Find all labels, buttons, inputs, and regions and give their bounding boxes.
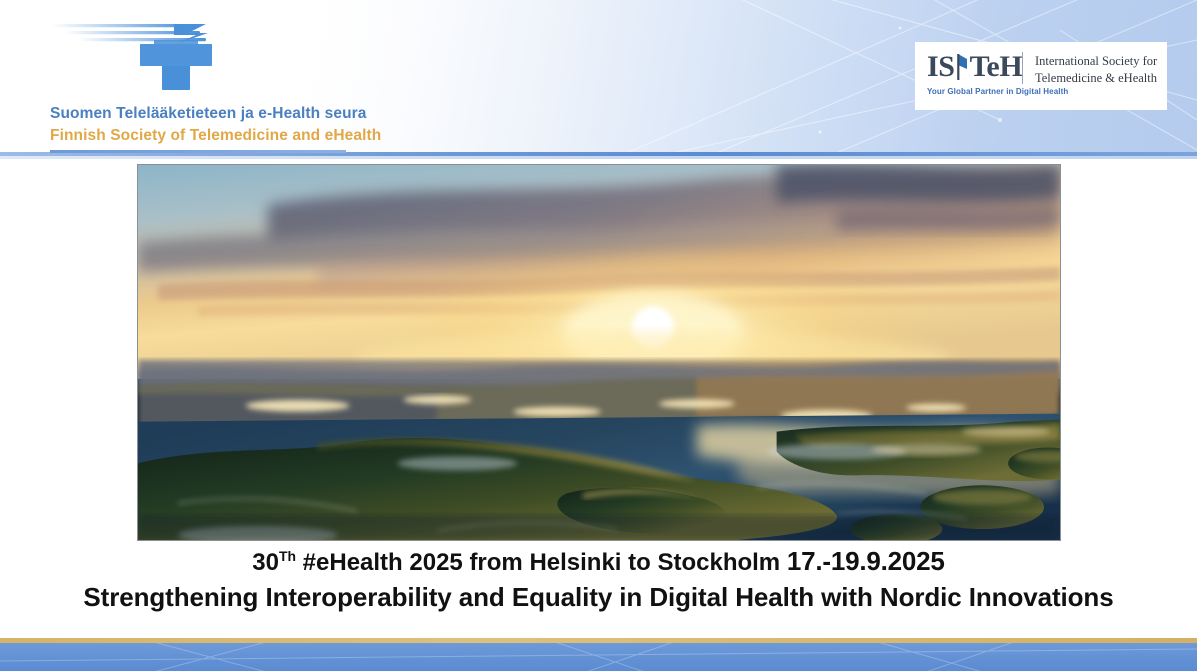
isfteh-tagline: Your Global Partner in Digital Health	[927, 87, 1068, 96]
isfteh-subtitle-line1: International Society for	[1035, 53, 1157, 70]
isfteh-divider	[1022, 52, 1023, 84]
presentation-slide: Suomen Telelääketieteen ja e-Health seur…	[0, 0, 1197, 671]
event-title-main: #eHealth 2025 from Helsinki to Stockholm	[296, 549, 787, 576]
isfteh-logo[interactable]: IS TeH Your Global Partner in Digital He…	[915, 42, 1167, 110]
finnish-society-logo-underline	[50, 150, 346, 153]
finnish-society-logo[interactable]: Suomen Telelääketieteen ja e-Health seur…	[48, 22, 348, 148]
header-bottom-rule-soft	[0, 156, 1197, 159]
isfteh-wordmark-pre: IS	[927, 50, 955, 83]
finnish-society-name-fi: Suomen Telelääketieteen ja e-Health seur…	[50, 105, 367, 123]
blue-cross-with-speed-lines-icon	[48, 22, 278, 90]
event-edition-number: 30	[252, 549, 279, 576]
footer-network-pattern	[0, 643, 1197, 671]
isfteh-wordmark: IS TeH	[927, 52, 1022, 82]
footer-band	[0, 643, 1197, 671]
isfteh-wordmark-post: TeH	[970, 50, 1023, 83]
aerial-lakeland-sunset-photo	[137, 164, 1061, 541]
event-edition-ordinal: Th	[279, 548, 296, 564]
photo-illustration	[138, 165, 1060, 540]
event-title-line-1: 30Th #eHealth 2025 from Helsinki to Stoc…	[0, 546, 1197, 577]
event-dates: 17.-19.9.2025	[787, 546, 945, 576]
finnish-society-name-en: Finnish Society of Telemedicine and eHea…	[50, 127, 381, 145]
isfteh-subtitle-line2: Telemedicine & eHealth	[1035, 70, 1157, 87]
event-title-line-2: Strengthening Interoperability and Equal…	[0, 582, 1197, 613]
isfteh-subtitle: International Society for Telemedicine &…	[1035, 53, 1157, 88]
